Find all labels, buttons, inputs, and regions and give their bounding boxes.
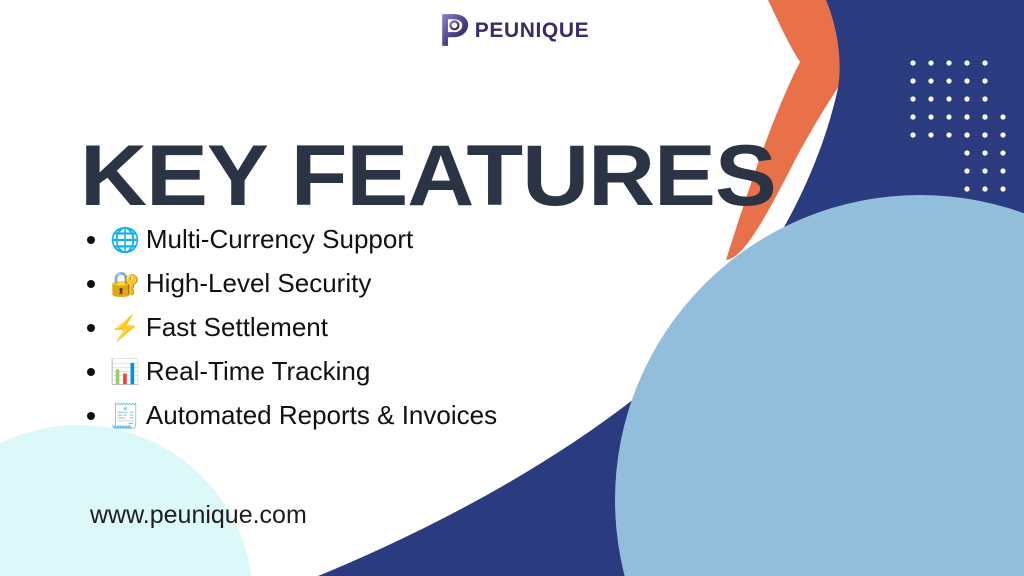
feature-label: Real-Time Tracking xyxy=(146,356,370,386)
locked-with-key-icon: 🔐 xyxy=(110,271,140,298)
website-url: www.peunique.com xyxy=(90,501,307,530)
page-title: KEY FEATURES xyxy=(80,136,776,218)
list-item: 🔐High-Level Security xyxy=(110,262,497,306)
list-item: 📊Real-Time Tracking xyxy=(110,350,497,394)
slide-canvas: PEUNIQUE KEY FEATURES 🌐Multi-Currency Su… xyxy=(0,0,1024,576)
bar-chart-icon: 📊 xyxy=(110,359,140,386)
list-item: 🧾Automated Reports & Invoices xyxy=(110,394,497,438)
brand-logo-lockup: PEUNIQUE xyxy=(0,12,1024,48)
feature-list: 🌐Multi-Currency Support🔐High-Level Secur… xyxy=(80,218,497,438)
dot-grid-pattern xyxy=(910,60,1005,191)
peunique-p-monogram-icon xyxy=(435,12,471,48)
high-voltage-icon: ⚡ xyxy=(110,315,140,342)
feature-label: Multi-Currency Support xyxy=(146,224,413,254)
list-item: 🌐Multi-Currency Support xyxy=(110,218,497,262)
feature-label: High-Level Security xyxy=(146,268,371,298)
list-item: ⚡Fast Settlement xyxy=(110,306,497,350)
globe-with-meridians-icon: 🌐 xyxy=(110,227,140,254)
light-blue-circle-shape xyxy=(615,195,1024,576)
brand-wordmark: PEUNIQUE xyxy=(475,20,590,41)
feature-label: Automated Reports & Invoices xyxy=(146,400,497,430)
feature-label: Fast Settlement xyxy=(146,312,328,342)
receipt-icon: 🧾 xyxy=(110,403,140,430)
